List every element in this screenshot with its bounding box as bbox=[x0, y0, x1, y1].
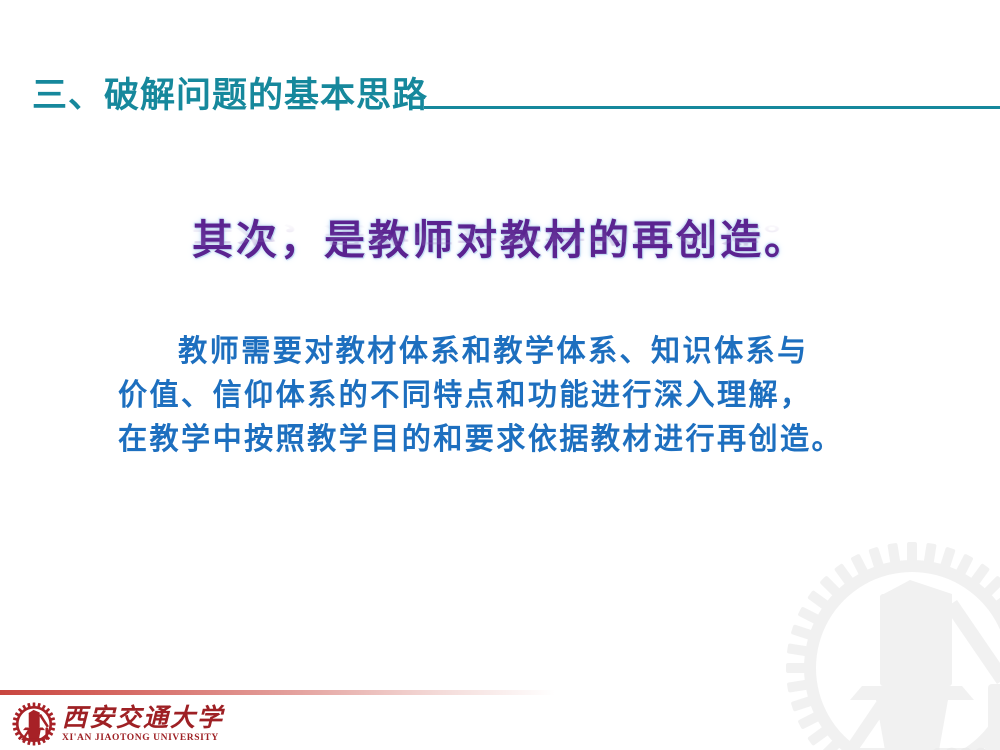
university-name-cn: 西安交通大学 bbox=[62, 705, 224, 731]
slide-canvas: 1896 三、破解问题的基本思路 其次，是教师对教材的再创造。 其次，是教师对教… bbox=[0, 0, 1000, 750]
university-logo-text: 西安交通大学 XI'AN JIAOTONG UNIVERSITY bbox=[62, 705, 224, 743]
page-title: 三、破解问题的基本思路 bbox=[32, 78, 428, 115]
title-underline-rule bbox=[424, 106, 1000, 109]
section-heading-reflection: 其次，是教师对教材的再创造。 bbox=[0, 221, 1000, 252]
slide-title-row: 三、破解问题的基本思路 bbox=[32, 78, 1000, 115]
body-paragraph: 教师需要对教材体系和教学体系、知识体系与 价值、信仰体系的不同特点和功能进行深入… bbox=[118, 330, 918, 462]
university-name-en: XI'AN JIAOTONG UNIVERSITY bbox=[62, 733, 224, 743]
body-line: 在教学中按照教学目的和要求依据教材进行再创造。 bbox=[118, 418, 894, 462]
xjtu-gear-emblem-icon bbox=[12, 702, 56, 746]
xjtu-gear-emblem-watermark-icon: 1896 bbox=[782, 538, 1000, 750]
watermark-year: 1896 bbox=[930, 742, 988, 750]
body-line: 价值、信仰体系的不同特点和功能进行深入理解， bbox=[118, 374, 894, 418]
university-logo: 西安交通大学 XI'AN JIAOTONG UNIVERSITY bbox=[12, 702, 224, 746]
body-line: 教师需要对教材体系和教学体系、知识体系与 bbox=[118, 330, 894, 374]
section-heading-block: 其次，是教师对教材的再创造。 其次，是教师对教材的再创造。 bbox=[0, 206, 1000, 312]
footer-divider-rule bbox=[0, 690, 555, 695]
